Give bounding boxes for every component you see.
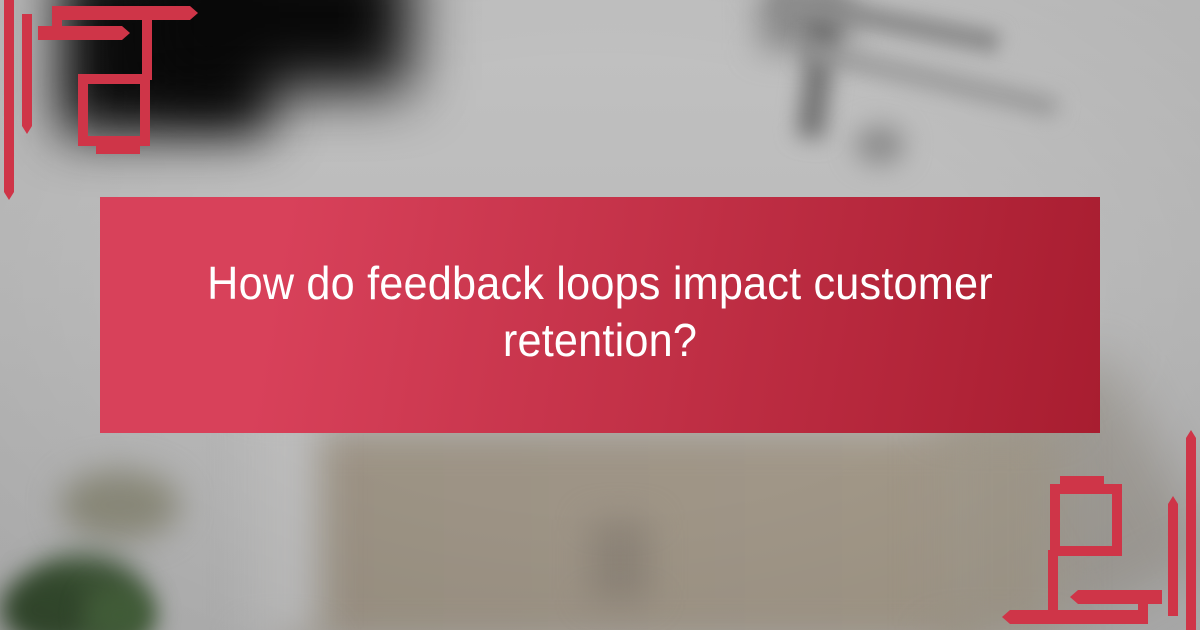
page-title: How do feedback loops impact customer re… (196, 255, 1004, 369)
share-card: How do feedback loops impact customer re… (0, 0, 1200, 630)
headline-banner: How do feedback loops impact customer re… (100, 197, 1100, 433)
